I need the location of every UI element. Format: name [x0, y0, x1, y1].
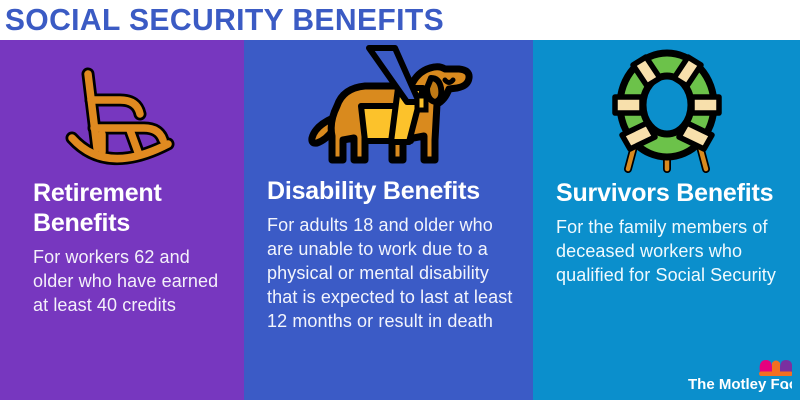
survivors-text-block: Survivors Benefits For the family member…: [556, 178, 786, 287]
survivors-heading: Survivors Benefits: [556, 178, 786, 208]
infographic-root: SOCIAL SECURITY BENEFITS: [0, 0, 800, 400]
benefit-column-disability: Disability Benefits For adults 18 and ol…: [244, 40, 533, 400]
page-title: SOCIAL SECURITY BENEFITS: [0, 3, 444, 37]
retirement-heading: Retirement Benefits: [33, 178, 232, 238]
disability-text-block: Disability Benefits For adults 18 and ol…: [267, 176, 523, 333]
header-bar: SOCIAL SECURITY BENEFITS: [0, 0, 800, 40]
retirement-text-block: Retirement Benefits For workers 62 and o…: [33, 178, 232, 317]
retirement-body: For workers 62 and older who have earned…: [33, 245, 232, 317]
disability-heading: Disability Benefits: [267, 176, 523, 206]
motley-fool-logo[interactable]: The Motley Fool .: [688, 358, 792, 394]
disability-body: For adults 18 and older who are unable t…: [267, 213, 523, 333]
survivors-body: For the family members of deceased worke…: [556, 215, 786, 287]
benefit-column-survivors: Survivors Benefits For the family member…: [533, 40, 800, 400]
svg-text:.: .: [785, 376, 789, 393]
rocking-chair-icon: [0, 48, 244, 176]
life-preserver-icon: [533, 46, 800, 174]
benefit-columns: Retirement Benefits For workers 62 and o…: [0, 40, 800, 400]
logo-wordmark: The Motley Fool: [688, 376, 792, 393]
guide-dog-icon: [244, 44, 533, 172]
benefit-column-retirement: Retirement Benefits For workers 62 and o…: [0, 40, 244, 400]
jester-hat-icon: [759, 360, 792, 376]
